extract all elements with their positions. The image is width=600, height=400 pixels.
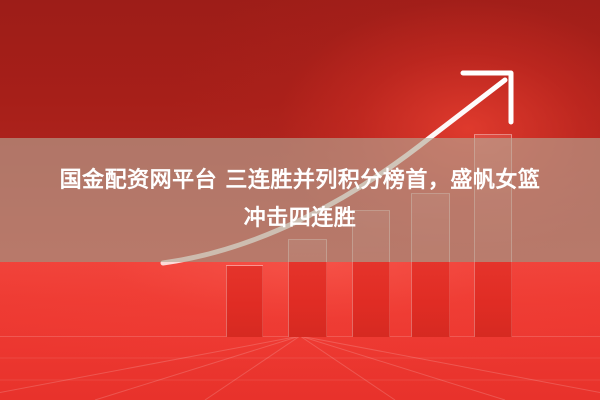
headline-text: 国金配资网平台 三连胜并列积分榜首，盛帆女篮 冲击四连胜 [0, 138, 600, 262]
banner-image: 国金配资网平台 三连胜并列积分榜首，盛帆女篮 冲击四连胜 [0, 0, 600, 400]
headline-line-1: 国金配资网平台 三连胜并列积分榜首，盛帆女篮 [60, 162, 541, 200]
headline-line-2: 冲击四连胜 [244, 200, 357, 238]
